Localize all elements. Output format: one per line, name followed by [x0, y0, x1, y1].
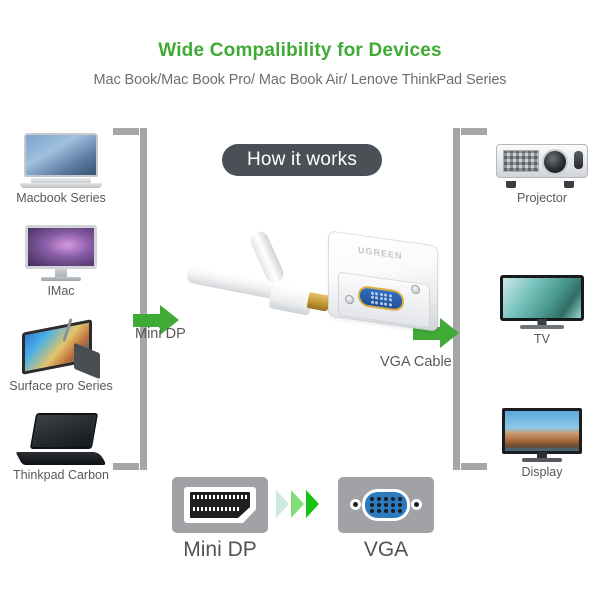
bracket-top-stub — [461, 128, 487, 135]
bracket-bottom-stub — [113, 463, 139, 470]
device-label: Projector — [487, 191, 597, 205]
mini-displayport-connector-tile — [172, 477, 268, 533]
device-item: Projector — [487, 128, 597, 205]
projector-icon — [487, 128, 597, 188]
page-title: Wide Compalibility for Devices — [0, 40, 600, 62]
vga-port-pins — [371, 291, 392, 306]
bracket-vertical-bar — [140, 128, 147, 470]
device-label: Display — [487, 465, 597, 479]
vga-connector-label: VGA — [316, 538, 456, 562]
source-device-list: Macbook Series IMac Surface pro Seri — [6, 128, 116, 488]
device-item: Display — [487, 402, 597, 479]
device-label: IMac — [6, 284, 116, 298]
left-bracket — [113, 128, 147, 470]
how-it-works-banner: How it works — [222, 144, 382, 176]
chevron-1 — [276, 490, 289, 518]
device-label: Surface pro Series — [6, 379, 116, 393]
mini-dp-flow-label: Mini DP — [135, 326, 186, 342]
device-label: TV — [487, 332, 597, 346]
adapter-product-image: UGREEN — [198, 232, 438, 362]
conversion-chevrons-icon — [276, 489, 334, 519]
cable-segment-upper — [248, 229, 286, 286]
vga-connector-icon — [352, 489, 420, 521]
device-label: Thinkpad Carbon — [6, 468, 116, 482]
mini-dp-connector-label: Mini DP — [150, 538, 290, 562]
surface-tablet-icon — [6, 316, 116, 376]
mini-displayport-connector-icon — [184, 487, 256, 523]
page-subtitle: Mac Book/Mac Book Pro/ Mac Book Air/ Len… — [0, 72, 600, 88]
vga-port-screw-right — [411, 284, 420, 294]
thinkpad-laptop-icon — [6, 405, 116, 465]
chevron-2 — [291, 490, 304, 518]
monitor-display-icon — [487, 402, 597, 462]
device-item: Thinkpad Carbon — [6, 405, 116, 482]
device-item: TV — [487, 269, 597, 346]
output-device-list: Projector TV Display — [487, 128, 597, 485]
bracket-top-stub — [113, 128, 139, 135]
infographic-canvas: Wide Compalibility for Devices Mac Book/… — [0, 0, 600, 600]
macbook-laptop-icon — [6, 128, 116, 188]
device-label: Macbook Series — [6, 191, 116, 205]
chevron-3 — [306, 490, 319, 518]
bracket-vertical-bar — [453, 128, 460, 470]
bracket-bottom-stub — [461, 463, 487, 470]
device-item: Surface pro Series — [6, 316, 116, 393]
imac-desktop-icon — [6, 221, 116, 281]
device-item: IMac — [6, 221, 116, 298]
vga-connector-tile — [338, 477, 434, 533]
device-item: Macbook Series — [6, 128, 116, 205]
television-icon — [487, 269, 597, 329]
vga-port-screw-left — [345, 294, 354, 304]
right-bracket — [453, 128, 487, 470]
